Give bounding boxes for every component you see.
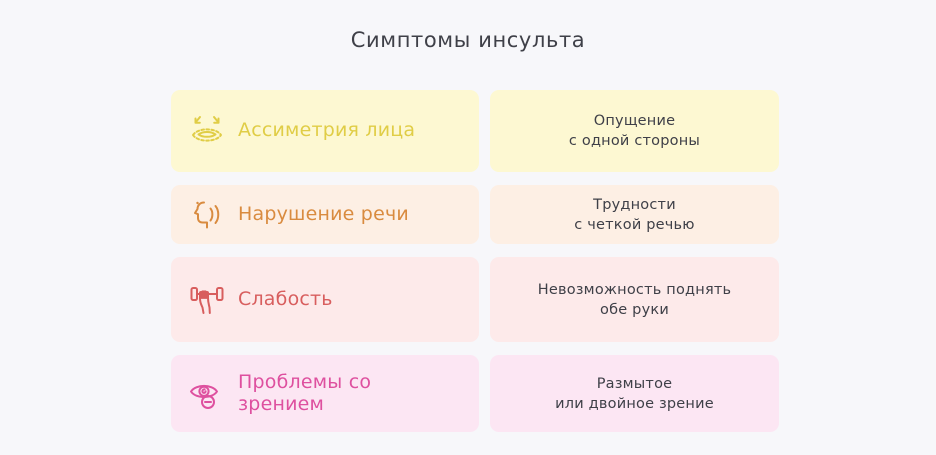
page-title: Симптомы инсульта <box>0 28 936 52</box>
symptom-card-speech-impairment[interactable]: Нарушение речи <box>171 185 479 244</box>
symptom-description: Трудности с четкой речью <box>574 195 694 235</box>
symptom-description: Невозможность поднять обе руки <box>538 280 732 320</box>
table-row: Проблемы со зрением Размытое или двойное… <box>171 355 779 432</box>
symptom-card-vision-problems[interactable]: Проблемы со зрением <box>171 355 479 432</box>
symptom-description: Опущение с одной стороны <box>569 111 700 151</box>
table-row: Слабость Невозможность поднять обе руки <box>171 257 779 342</box>
symptom-label: Проблемы со зрением <box>238 372 371 415</box>
symptom-card-face-asymmetry[interactable]: Ассиметрия лица <box>171 90 479 172</box>
symptom-label: Ассиметрия лица <box>238 120 415 141</box>
symptom-grid: Ассиметрия лица Опущение с одной стороны… <box>171 90 779 445</box>
symptom-label: Нарушение речи <box>238 204 409 225</box>
symptom-detail-speech-impairment: Трудности с четкой речью <box>490 185 779 244</box>
symptom-detail-face-asymmetry: Опущение с одной стороны <box>490 90 779 172</box>
symptom-label: Слабость <box>238 289 333 310</box>
symptom-card-weakness[interactable]: Слабость <box>171 257 479 342</box>
speaking-head-icon <box>185 193 229 237</box>
symptom-description: Размытое или двойное зрение <box>555 374 714 414</box>
mouth-arrows-icon <box>185 109 229 153</box>
hand-dumbbell-icon <box>185 278 229 322</box>
infographic-page: Симптомы инсульта Ассиметрия лица <box>0 0 936 455</box>
eye-minus-icon <box>185 372 229 416</box>
table-row: Ассиметрия лица Опущение с одной стороны <box>171 90 779 172</box>
symptom-detail-vision-problems: Размытое или двойное зрение <box>490 355 779 432</box>
symptom-detail-weakness: Невозможность поднять обе руки <box>490 257 779 342</box>
table-row: Нарушение речи Трудности с четкой речью <box>171 185 779 244</box>
